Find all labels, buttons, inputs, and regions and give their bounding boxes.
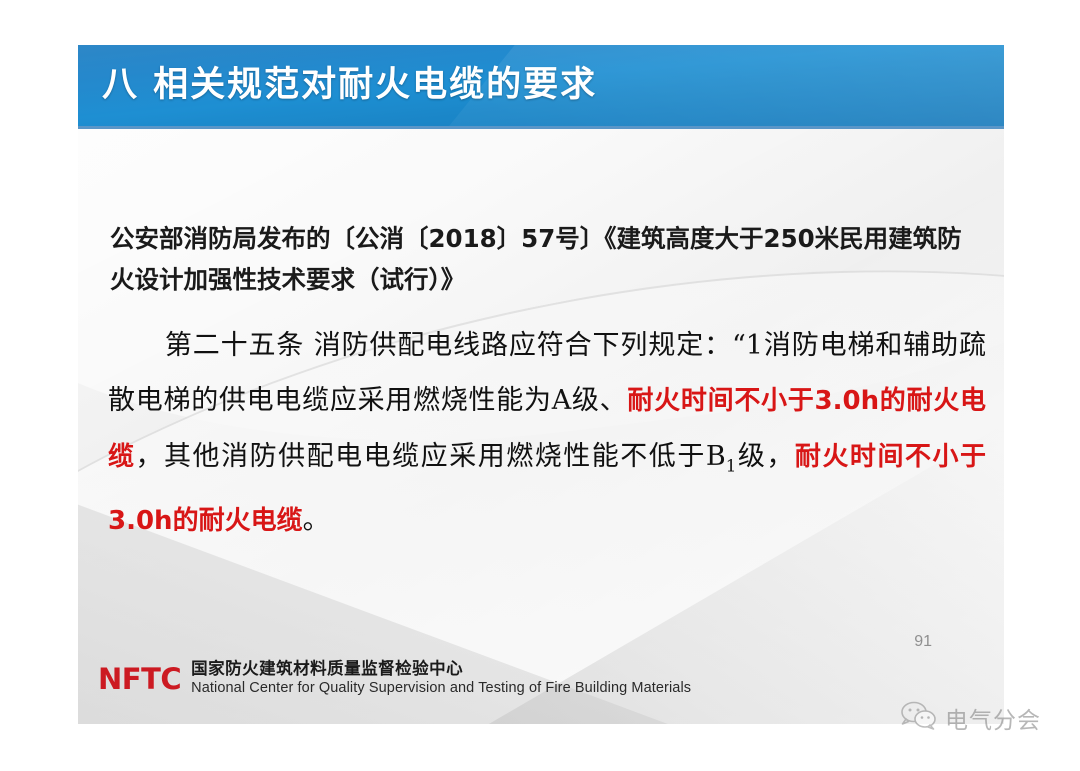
paragraph-segment-4: 。: [303, 505, 330, 536]
slide-title-bar: 八 相关规范对耐火电缆的要求: [78, 45, 1004, 129]
paragraph-segment-2: ，其他消防供配电电缆应采用燃烧性能不低于B: [136, 441, 726, 472]
slide-page: 八 相关规范对耐火电缆的要求 公安部消防局发布的〔公消〔2018〕57号〕《建筑…: [0, 0, 1080, 771]
page-number: 91: [914, 633, 932, 651]
grade-subscript: 1: [726, 455, 737, 475]
footer-logo: NFTC 国家防火建筑材料质量监督检验中心 National Center fo…: [98, 659, 691, 698]
document-reference-heading: 公安部消防局发布的〔公消〔2018〕57号〕《建筑高度大于250米民用建筑防火设…: [110, 218, 980, 300]
footer-org-names: 国家防火建筑材料质量监督检验中心 National Center for Qua…: [191, 659, 691, 698]
page-title: 八 相关规范对耐火电缆的要求: [102, 56, 597, 107]
regulation-paragraph: 第二十五条 消防供配电线路应符合下列规定：“1消防电梯和辅助疏散电梯的供电电缆应…: [108, 318, 986, 549]
paragraph-segment-3: 级，: [736, 441, 795, 472]
nftc-logo-mark: NFTC: [98, 662, 181, 696]
slide-canvas: 八 相关规范对耐火电缆的要求 公安部消防局发布的〔公消〔2018〕57号〕《建筑…: [78, 45, 1004, 724]
org-name-english: National Center for Quality Supervision …: [191, 679, 691, 698]
org-name-chinese: 国家防火建筑材料质量监督检验中心: [191, 659, 691, 679]
slide-content: 公安部消防局发布的〔公消〔2018〕57号〕《建筑高度大于250米民用建筑防火设…: [78, 126, 1004, 724]
